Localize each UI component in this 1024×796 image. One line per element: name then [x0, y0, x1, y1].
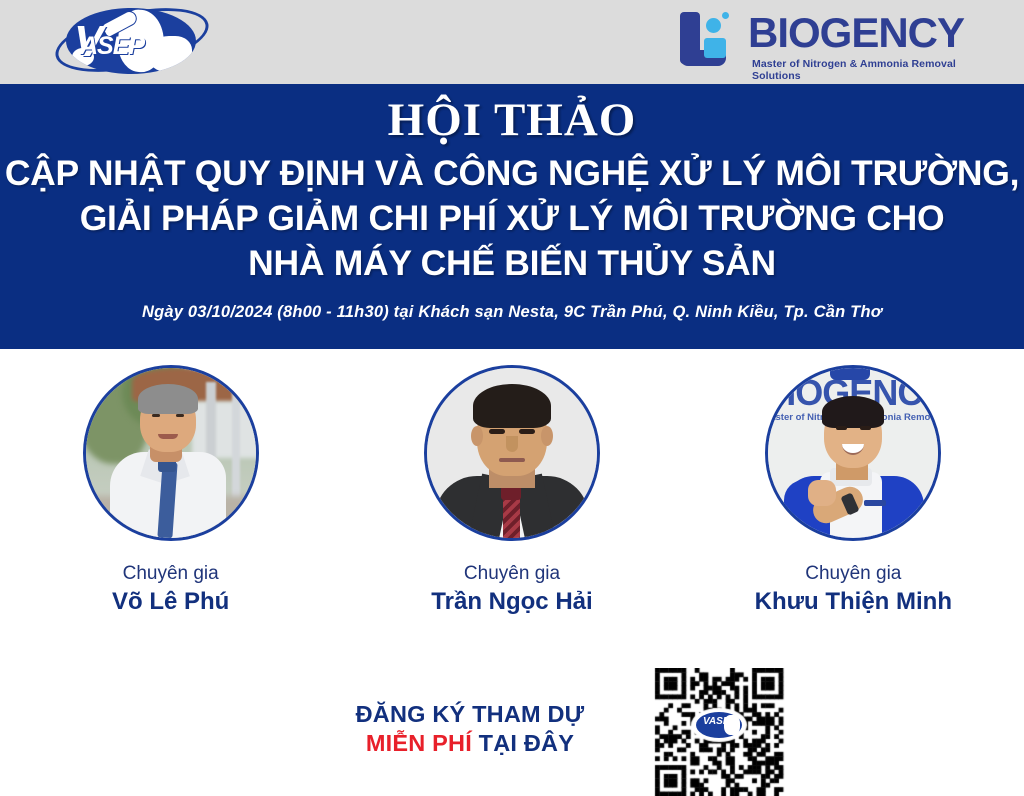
banner-title-line: CẬP NHẬT QUY ĐỊNH VÀ CÔNG NGHỆ XỬ LÝ MÔI…	[0, 151, 1024, 196]
qr-center-vasep-logo: VASEP	[693, 710, 745, 740]
photo-eyebrow	[517, 420, 537, 424]
photo-eye	[152, 414, 160, 417]
cta-here-label: TẠI ĐÂY	[472, 730, 574, 756]
speaker-role: Chuyên gia	[703, 563, 1003, 585]
qr-logo-text: VASEP	[703, 717, 736, 727]
title-banner: HỘI THẢO CẬP NHẬT QUY ĐỊNH VÀ CÔNG NGHỆ …	[0, 84, 1024, 349]
cta-line-2: MIỄN PHÍ TẠI ĐÂY	[300, 729, 640, 758]
biogency-mark-dot	[722, 12, 729, 19]
speaker-card: Chuyên gia Võ Lê Phú	[21, 365, 321, 616]
banner-title-line: NHÀ MÁY CHẾ BIẾN THỦY SẢN	[0, 241, 1024, 286]
photo-hand	[808, 480, 836, 506]
speaker-role: Chuyên gia	[362, 563, 662, 585]
biogency-tagline: Master of Nitrogen & Ammonia Removal Sol…	[752, 58, 966, 82]
cta-line-1: ĐĂNG KÝ THAM DỰ	[300, 700, 640, 729]
registration-cta: ĐĂNG KÝ THAM DỰ MIỄN PHÍ TẠI ĐÂY	[300, 700, 640, 759]
biogency-wordmark: BIOGENCY	[748, 12, 964, 54]
photo-hair	[822, 396, 884, 428]
photo-eyebrow	[487, 420, 507, 424]
qr-code-registration[interactable]: VASEP	[651, 668, 787, 796]
speaker-name: Võ Lê Phú	[21, 588, 321, 616]
banner-title-line: GIẢI PHÁP GIẢM CHI PHÍ XỬ LÝ MÔI TRƯỜNG …	[0, 196, 1024, 241]
photo-polo-logo	[864, 500, 886, 506]
banner-title: CẬP NHẬT QUY ĐỊNH VÀ CÔNG NGHỆ XỬ LÝ MÔI…	[0, 145, 1024, 285]
photo-pole	[232, 392, 240, 502]
banner-kicker: HỘI THẢO	[0, 84, 1024, 145]
speaker-name: Khưu Thiện Minh	[703, 588, 1003, 616]
vasep-logo-text: ASEP	[80, 32, 144, 61]
speaker-photo-vo-le-phu	[83, 365, 259, 541]
photo-necktie-knot	[501, 486, 521, 500]
photo-necktie-stripes	[503, 494, 520, 541]
photo-eye	[836, 426, 847, 430]
event-poster: V ASEP BIOGENCY Master of Nitrogen & Amm…	[0, 0, 1024, 796]
photo-eye	[519, 429, 535, 434]
biogency-mark-dot	[706, 18, 721, 33]
photo-eye	[176, 414, 184, 417]
photo-hair	[138, 384, 198, 414]
qr-logo-ellipse: VASEP	[696, 712, 742, 738]
speaker-photo-khuu-thien-minh: IOGENC Master of Nitrogen & Ammonia Remo…	[765, 365, 941, 541]
photo-ear	[471, 426, 483, 446]
biogency-mark-square	[704, 38, 726, 58]
speaker-name: Trần Ngọc Hải	[362, 588, 662, 616]
vasep-continent-shape	[148, 36, 192, 72]
photo-eye	[860, 426, 871, 430]
speaker-role: Chuyên gia	[21, 563, 321, 585]
photo-mouth	[158, 434, 178, 439]
speaker-card: IOGENC Master of Nitrogen & Ammonia Remo…	[703, 365, 1003, 616]
speaker-photo-tran-ngoc-hai	[424, 365, 600, 541]
biogency-mark-icon	[676, 10, 738, 72]
cta-free-label: MIỄN PHÍ	[366, 730, 472, 756]
photo-eye	[489, 429, 505, 434]
speakers-row: Chuyên gia Võ Lê Phú	[0, 365, 1024, 616]
vasep-logo: V ASEP	[52, 2, 212, 80]
photo-mouth	[499, 458, 525, 462]
photo-building-wall	[192, 402, 259, 458]
logo-bar: V ASEP BIOGENCY Master of Nitrogen & Amm…	[0, 0, 1024, 84]
photo-ear	[541, 426, 553, 446]
biogency-logo: BIOGENCY Master of Nitrogen & Ammonia Re…	[676, 6, 966, 78]
banner-date-venue: Ngày 03/10/2024 (8h00 - 11h30) tại Khách…	[0, 286, 1024, 322]
photo-hair	[473, 384, 551, 428]
photo-nose	[506, 436, 518, 452]
speaker-card: Chuyên gia Trần Ngọc Hải	[362, 365, 662, 616]
